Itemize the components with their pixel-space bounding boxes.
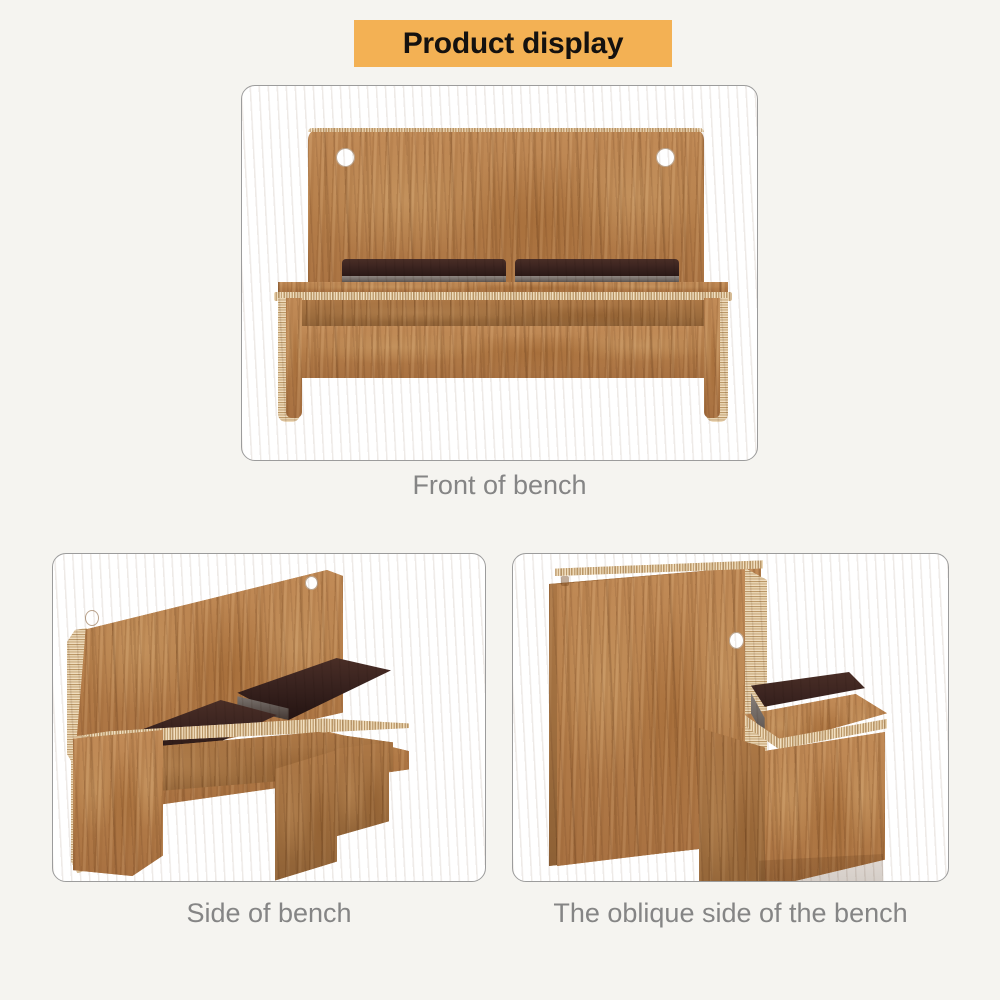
bench-front-illustration [242,86,757,460]
product-image-card-side[interactable] [52,553,486,882]
side-bench-leg-right [335,742,389,852]
backrest-top-ply-edge [308,128,704,132]
backrest-hole-right-icon [656,148,675,167]
side-bench-leg-left [73,730,163,876]
caption-oblique-side-of-bench: The oblique side of the bench [512,898,949,929]
page-title-banner: Product display [354,20,672,67]
bench-oblique-illustration [513,554,948,881]
bench-leg-right [704,298,720,418]
bench-apron-panel [294,300,712,328]
bench-lower-back-panel [294,326,712,378]
side-backrest-hole-right-icon [305,576,318,590]
side-backrest-hole-left-icon [85,610,99,626]
product-image-card-oblique[interactable] [512,553,949,882]
bench-side-illustration [53,554,485,881]
caption-side-of-bench: Side of bench [52,898,486,929]
product-image-card-front[interactable] [241,85,758,461]
product-display-page: Product display Front of bench [0,0,1000,1000]
oblique-backrest-hole-icon [729,632,744,649]
side-bench-leg-middle [275,750,337,882]
caption-front-of-bench: Front of bench [241,470,758,501]
oblique-bench-side-panel [699,728,765,882]
page-title: Product display [403,29,624,59]
oblique-backrest-mark [561,576,569,586]
backrest-hole-left-icon [336,148,355,167]
bench-leg-left [286,298,302,418]
